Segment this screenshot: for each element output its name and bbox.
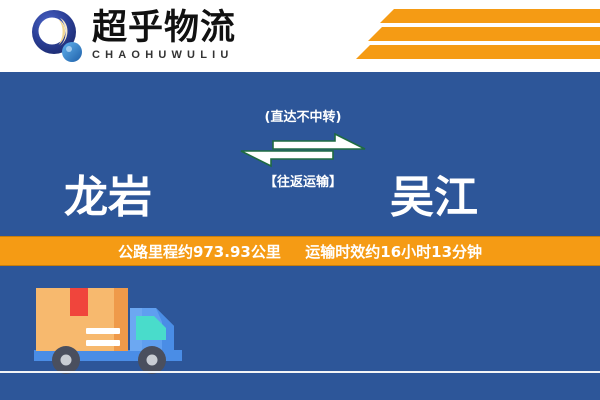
duration-text: 运输时效约16小时13分钟 bbox=[305, 243, 482, 261]
distance-text: 公路里程约973.93公里 bbox=[118, 243, 281, 261]
arrow-svg bbox=[239, 130, 367, 170]
ground-line bbox=[0, 371, 600, 373]
brand-name-cn: 超乎物流 bbox=[92, 10, 236, 46]
route-note-roundtrip: 【往返运输】 bbox=[238, 175, 368, 191]
truck-svg bbox=[30, 278, 205, 378]
route-note-direct: (直达不中转) bbox=[238, 110, 368, 126]
stripes-svg bbox=[340, 0, 600, 72]
route-panel: 龙岩 (直达不中转) 【往返运输】 吴江 bbox=[0, 72, 600, 236]
delivery-truck-illustration-icon bbox=[30, 278, 205, 383]
logistics-route-banner: 超乎物流 CHAOHUWULIU 龙岩 (直达不中转) bbox=[0, 0, 600, 400]
route-arrow-block: (直达不中转) 【往返运输】 bbox=[238, 110, 368, 191]
banner-footer bbox=[0, 266, 600, 400]
route-info-text: 公路里程约973.93公里 运输时效约16小时13分钟 bbox=[118, 241, 482, 262]
brand-name-en: CHAOHUWULIU bbox=[92, 49, 236, 62]
banner-header: 超乎物流 CHAOHUWULIU bbox=[0, 0, 600, 72]
route-info-bar: 公路里程约973.93公里 运输时效约16小时13分钟 bbox=[0, 236, 600, 266]
destination-city: 吴江 bbox=[390, 175, 478, 221]
bidirectional-arrow-icon bbox=[238, 130, 368, 170]
brand-logo: 超乎物流 CHAOHUWULIU bbox=[28, 8, 236, 66]
logo-svg bbox=[28, 8, 86, 66]
origin-city: 龙岩 bbox=[64, 175, 152, 221]
brand-text-block: 超乎物流 CHAOHUWULIU bbox=[92, 8, 236, 62]
speed-stripes-decoration-icon bbox=[340, 0, 600, 72]
chaohu-circle-logo-icon bbox=[28, 8, 86, 66]
